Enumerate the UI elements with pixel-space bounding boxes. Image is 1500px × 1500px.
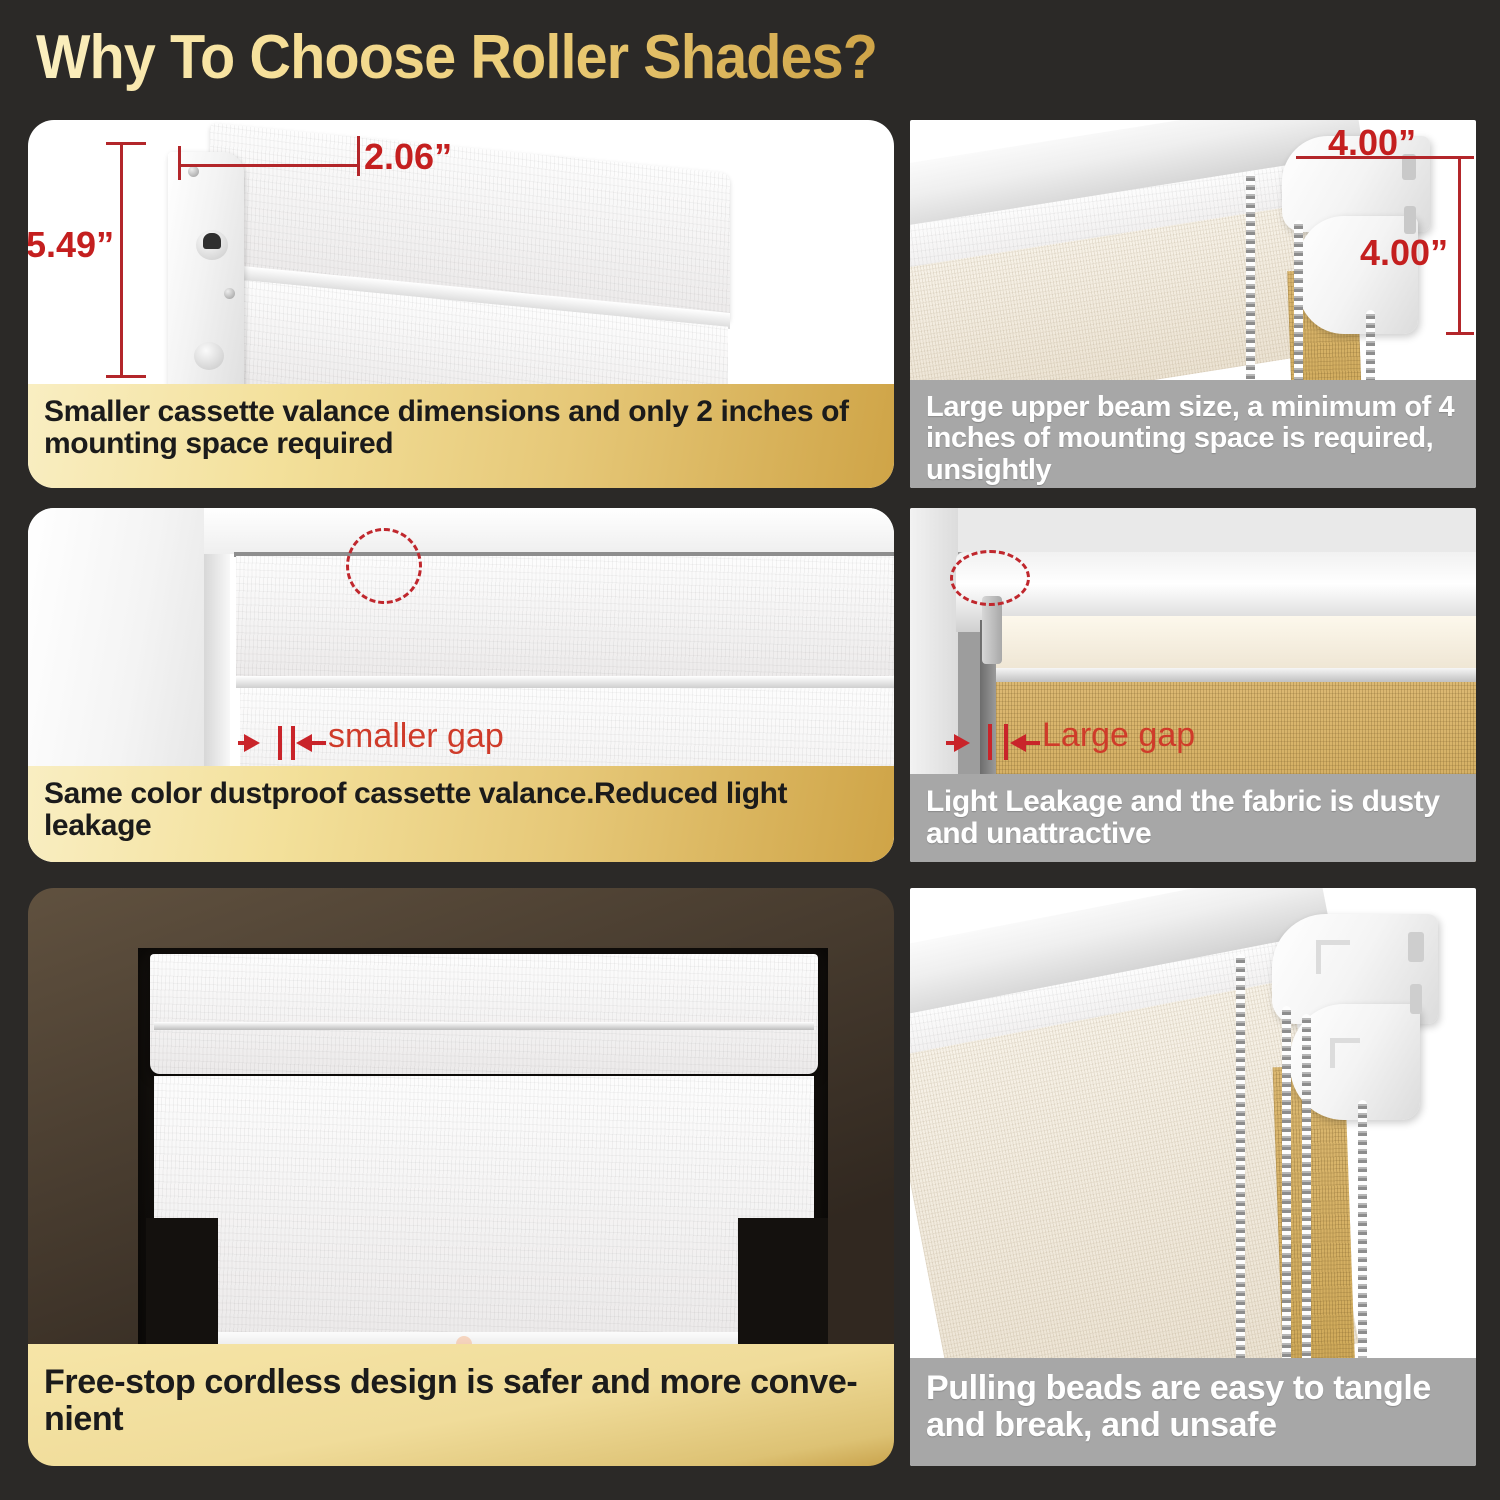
gap-label: smaller gap — [328, 717, 504, 756]
gap-tick-icon — [988, 724, 992, 760]
gap-arrow-stem — [238, 741, 252, 745]
bracket-arrow-icon — [1330, 1038, 1360, 1068]
bead-chain[interactable] — [1358, 1100, 1367, 1376]
roller-lower-knob — [194, 342, 224, 370]
width-dimension-tick-right — [357, 136, 360, 176]
gap-arrow-stem — [1026, 741, 1040, 745]
panel-cordless-design: Free-stop cordless design is safer and m… — [28, 888, 894, 1466]
panel-1-caption: Smaller cassette valance dimensions and … — [28, 384, 894, 488]
bracket-slot-icon — [1408, 932, 1424, 962]
highlight-circle-icon — [346, 528, 422, 604]
width-dimension-line — [178, 164, 360, 167]
panel-smaller-cassette: 2.06” 5.49” Smaller cassette valance dim… — [28, 120, 894, 488]
gap-tick-icon — [278, 726, 282, 760]
height-dimension-line — [120, 142, 123, 378]
cassette-valance — [236, 556, 894, 682]
width-dimension-tick-left — [178, 146, 181, 180]
width-dimension-label: 2.06” — [364, 136, 452, 178]
panel-large-beam: 4.00” 4.00” Large upper beam size, a min… — [910, 120, 1476, 488]
gap-arrow-right-icon — [1010, 734, 1026, 752]
beam-height-tick-top — [1446, 156, 1474, 159]
cassette-valance — [150, 954, 818, 1074]
valance-groove — [154, 1022, 814, 1030]
valance-rail — [988, 668, 1476, 682]
comparison-grid: 2.06” 5.49” Smaller cassette valance dim… — [0, 0, 1500, 1500]
panel-2-caption: Large upper beam size, a minimum of 4 in… — [910, 380, 1476, 488]
panel-6-caption: Pulling beads are easy to tangle and bre… — [910, 1358, 1476, 1466]
bracket-slot-icon — [1410, 984, 1422, 1014]
highlight-circle-icon — [950, 550, 1030, 606]
wall-surface — [910, 508, 1476, 552]
valance-face — [988, 616, 1476, 672]
bracket-slot-icon — [1404, 206, 1416, 234]
screw-icon — [224, 288, 235, 299]
panel-4-caption: Light Leakage and the fabric is dusty an… — [910, 774, 1476, 862]
bracket-pin — [982, 596, 1002, 664]
gap-label: Large gap — [1042, 716, 1195, 755]
panel-5-caption: Free-stop cordless design is safer and m… — [28, 1344, 894, 1466]
roller-mechanism-knob — [196, 230, 228, 260]
gap-tick-icon — [1004, 724, 1008, 760]
height-dimension-label: 5.49” — [28, 224, 114, 266]
gap-tick-icon — [291, 726, 295, 760]
height-dimension-tick-bottom — [106, 375, 146, 378]
bead-chain[interactable] — [1302, 1014, 1311, 1374]
panel-dustproof-valance: smaller gap Same color dustproof cassett… — [28, 508, 894, 862]
window-frame-top — [204, 508, 894, 554]
bead-chain[interactable] — [1236, 954, 1245, 1374]
height-dimension-tick-top — [106, 142, 146, 145]
panel-pulling-beads: Pulling beads are easy to tangle and bre… — [910, 888, 1476, 1466]
bracket-arrow-icon — [1316, 940, 1350, 974]
valance-bottom-edge — [236, 676, 894, 688]
beam-height-line — [1458, 156, 1461, 334]
bead-chain[interactable] — [1282, 1006, 1291, 1374]
shade-fabric — [154, 1076, 814, 1336]
beam-height-label: 4.00” — [1360, 232, 1448, 274]
gap-arrow-stem — [946, 741, 960, 745]
panel-light-leakage: Large gap Light Leakage and the fabric i… — [910, 508, 1476, 862]
gap-arrow-stem — [312, 741, 326, 745]
gap-arrow-right-icon — [296, 734, 312, 752]
screw-icon — [188, 166, 199, 177]
beam-height-tick-bottom — [1446, 332, 1474, 335]
panel-3-caption: Same color dustproof cassette valance.Re… — [28, 766, 894, 862]
beam-width-label: 4.00” — [1328, 122, 1416, 164]
